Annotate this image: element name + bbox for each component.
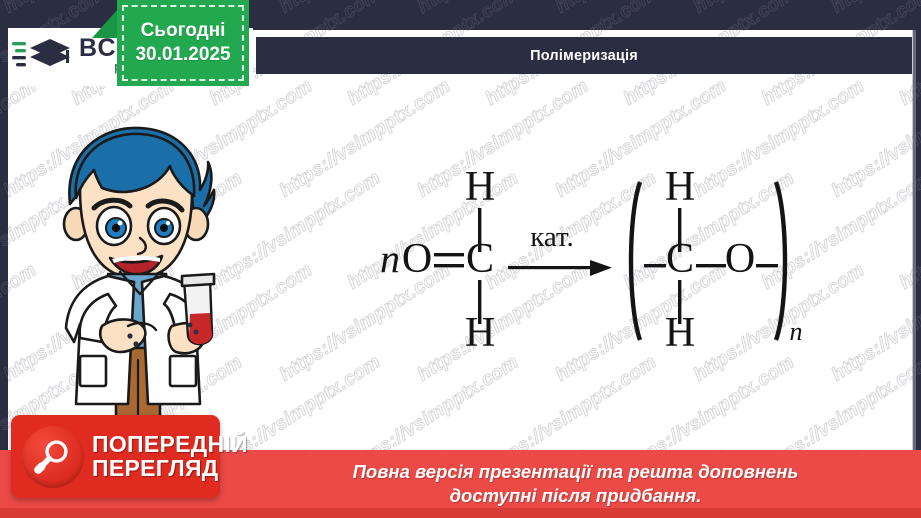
polymer-bond-left <box>644 264 666 267</box>
catalyst-label: кат. <box>530 221 574 253</box>
monomer-bond-bottom <box>478 280 481 324</box>
polymer-oxygen-atom: O <box>725 236 755 282</box>
slide-title-bar: Полімеризація <box>256 37 912 74</box>
boy-scientist-illustration <box>24 112 250 418</box>
double-bond-upper <box>434 253 464 256</box>
polymer-bond-right <box>756 264 778 267</box>
close-parenthesis <box>776 182 785 340</box>
double-bond-lower <box>434 264 464 267</box>
date-badge: Сьогодні 30.01.2025 <box>117 0 249 86</box>
page-title: Полімеризація <box>530 48 638 64</box>
monomer-bond-top <box>478 208 481 252</box>
reaction-arrow-shaft <box>508 266 592 269</box>
date-badge-value: 30.01.2025 <box>135 45 230 66</box>
polymer-bond-top <box>678 208 681 252</box>
open-parenthesis <box>631 182 640 340</box>
polymer-bond-bottom <box>678 280 681 324</box>
reaction-arrow-head <box>590 260 612 276</box>
slide-root: https://vsimpptx.comhttps://vsimpptx.com… <box>0 0 921 518</box>
preview-badge-text: ПОПЕРЕДНІЙ ПЕРЕГЛЯД <box>92 433 248 480</box>
polymer-h-top: H <box>665 168 695 210</box>
polymerisation-equation: n O C H H кат. C O H H <box>372 168 812 353</box>
preview-line-2: ПЕРЕГЛЯД <box>92 457 248 480</box>
polymer-subscript-n: n <box>790 317 803 346</box>
preview-line-1: ПОПЕРЕДНІЙ <box>92 433 248 456</box>
banner-base-strip <box>0 508 921 518</box>
magnifier-icon <box>22 426 84 488</box>
banner-line-1: Повна версія презентації та решта доповн… <box>353 460 799 484</box>
monomer-n-coefficient: n <box>380 236 400 281</box>
polymer-bond-middle <box>696 264 726 267</box>
monomer-oxygen-atom: O <box>402 236 432 282</box>
preview-badge[interactable]: ПОПЕРЕДНІЙ ПЕРЕГЛЯД <box>11 415 220 498</box>
banner-line-2: доступні після придбання. <box>450 484 702 508</box>
date-badge-label: Сьогодні <box>141 21 226 42</box>
graduation-cap-icon <box>12 33 74 75</box>
monomer-h-top: H <box>465 168 495 210</box>
canvas-shadow <box>912 28 916 490</box>
